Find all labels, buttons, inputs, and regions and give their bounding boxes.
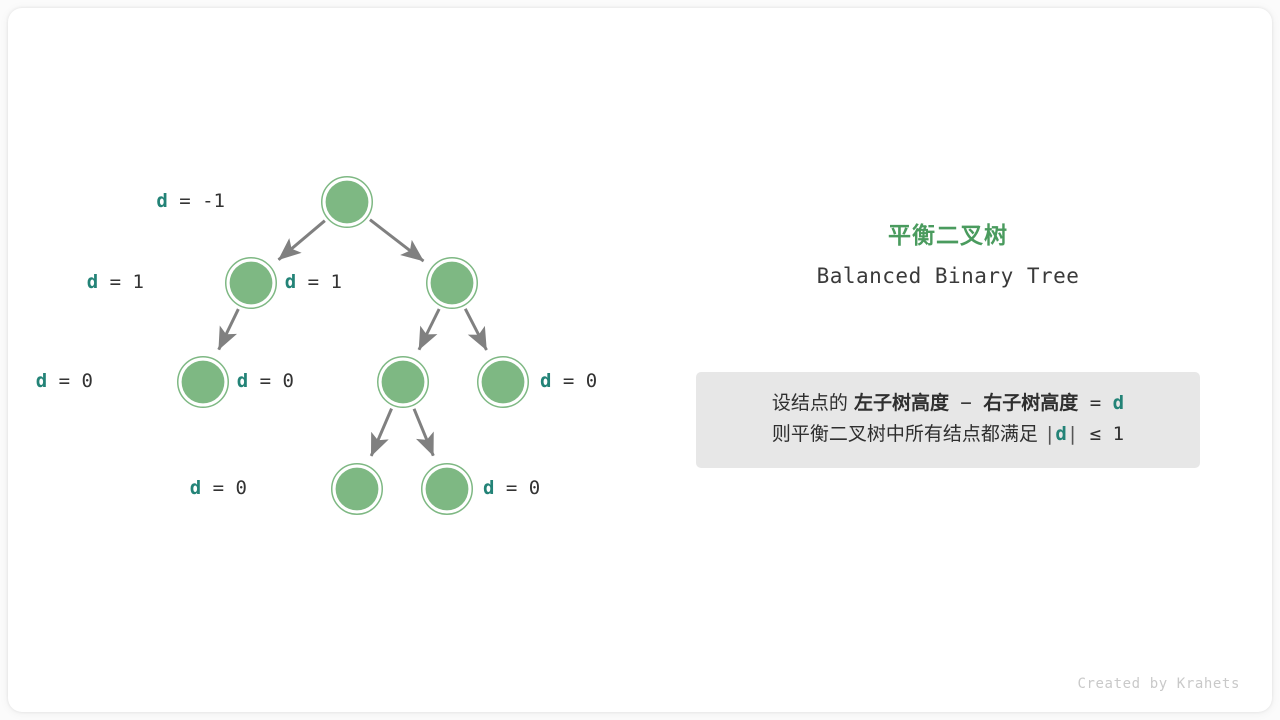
- canvas: d = -1d = 1d = 1d = 0d = 0d = 0d = 0d = …: [0, 0, 1280, 720]
- node-balance-label: d = 1: [0, 273, 342, 292]
- node-balance-label: d = 0: [540, 372, 597, 391]
- tree-edge: [219, 309, 239, 350]
- balance-value: = -1: [168, 190, 225, 212]
- abs-bar-left: |: [1044, 423, 1055, 445]
- balance-symbol: d: [285, 271, 296, 293]
- abs-bar-right: |: [1067, 423, 1078, 445]
- tree-edge: [414, 409, 433, 456]
- tree-node: [322, 177, 373, 228]
- node-balance-label: d = 0: [0, 479, 247, 498]
- tree-node: [478, 357, 529, 408]
- balance-value: = 0: [248, 370, 294, 392]
- tree-edge: [370, 220, 424, 261]
- definition-line-1: 设结点的 左子树高度 − 右子树高度 = d: [696, 388, 1200, 419]
- tree-node: [378, 357, 429, 408]
- node-circle: [326, 181, 369, 224]
- condition-prefix: 则平衡二叉树中所有结点都满足: [772, 423, 1044, 445]
- tree-nodes: [178, 177, 529, 515]
- definition-prefix: 设结点的: [772, 392, 854, 414]
- d-symbol-abs: d: [1055, 423, 1066, 445]
- inequality-term: ≤ 1: [1078, 423, 1124, 445]
- definition-line-2: 则平衡二叉树中所有结点都满足 |d| ≤ 1: [696, 419, 1200, 450]
- balance-value: = 0: [201, 477, 247, 499]
- balance-value: = 1: [296, 271, 342, 293]
- node-circle: [336, 468, 379, 511]
- title-panel: 平衡二叉树 Balanced Binary Tree: [696, 222, 1200, 288]
- node-balance-label: d = -1: [0, 192, 225, 211]
- tree-edge: [371, 409, 391, 456]
- node-balance-label: d = 0: [483, 479, 540, 498]
- balance-symbol: d: [237, 370, 248, 392]
- balance-symbol: d: [190, 477, 201, 499]
- definition-box: 设结点的 左子树高度 − 右子树高度 = d 则平衡二叉树中所有结点都满足 |d…: [696, 372, 1200, 468]
- page-subtitle: Balanced Binary Tree: [696, 264, 1200, 288]
- balance-value: = 0: [494, 477, 540, 499]
- node-circle: [426, 468, 469, 511]
- balance-value: = 0: [551, 370, 597, 392]
- page-title: 平衡二叉树: [696, 222, 1200, 252]
- balance-symbol: d: [540, 370, 551, 392]
- credit-text: Created by Krahets: [1077, 676, 1240, 692]
- tree-node: [427, 258, 478, 309]
- tree-node: [422, 464, 473, 515]
- minus-operator: −: [949, 392, 983, 414]
- binary-tree-diagram: [0, 0, 700, 720]
- node-circle: [382, 361, 425, 404]
- node-circle: [482, 361, 525, 404]
- tree-node: [332, 464, 383, 515]
- equals-operator: =: [1078, 392, 1112, 414]
- right-subtree-height-term: 右子树高度: [983, 392, 1078, 414]
- tree-edge: [279, 221, 325, 260]
- node-circle: [431, 262, 474, 305]
- node-balance-label: d = 0: [0, 372, 294, 391]
- tree-edge: [465, 309, 486, 350]
- balance-symbol: d: [483, 477, 494, 499]
- tree-edges: [219, 220, 487, 456]
- tree-edge: [419, 309, 439, 350]
- balance-symbol: d: [156, 190, 167, 212]
- left-subtree-height-term: 左子树高度: [854, 392, 949, 414]
- d-symbol: d: [1113, 392, 1124, 414]
